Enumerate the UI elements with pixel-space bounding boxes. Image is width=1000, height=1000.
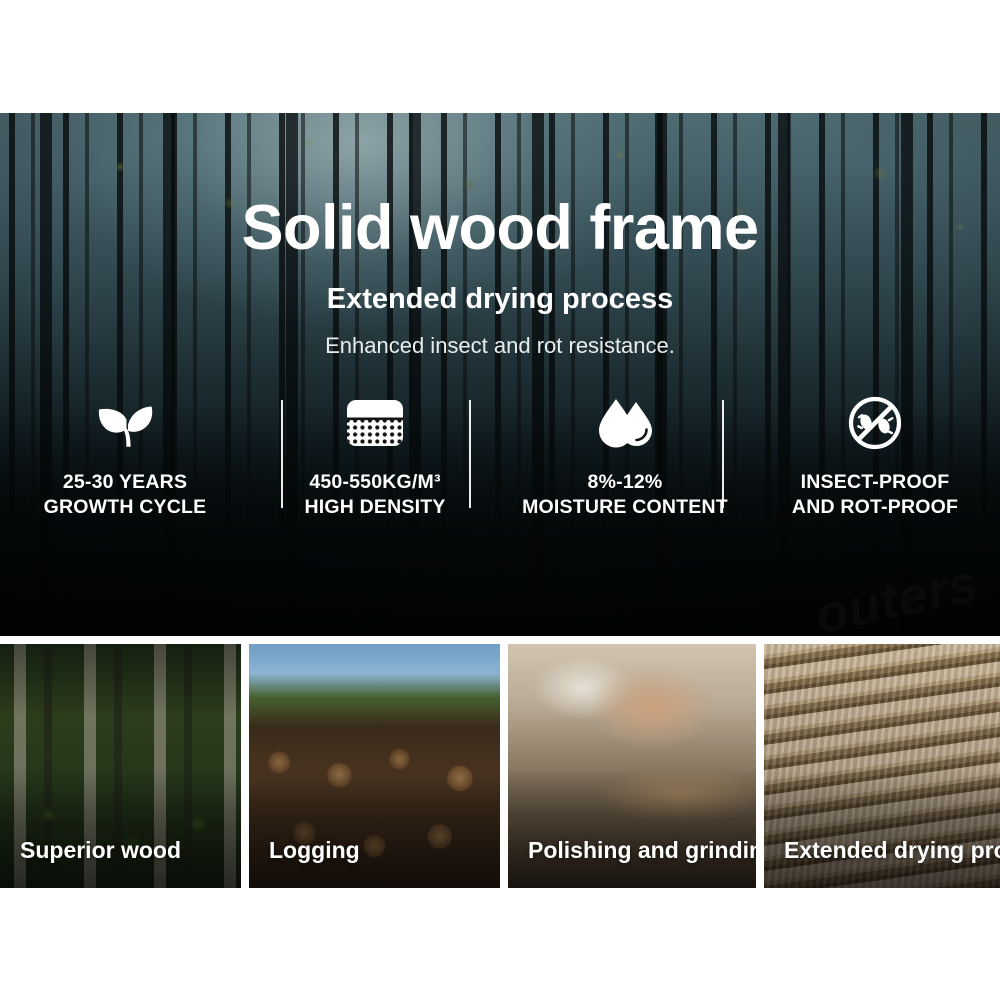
feature-line-1: 8%-12%	[588, 471, 663, 493]
tile-scrim	[0, 768, 241, 888]
infographic-page: outers Solid wood frame Extended drying …	[0, 0, 1000, 1000]
feature-line-1: INSECT-PROOF	[801, 471, 950, 493]
gallery-tile-superior-wood: Superior wood	[0, 644, 241, 888]
feature-line-1: 25-30 YEARS	[63, 471, 187, 493]
feature-label-high-density: 450-550KG/M³ HIGH DENSITY	[304, 470, 445, 520]
gallery-tile-logging: Logging	[249, 644, 500, 888]
feature-insect-proof: INSECT-PROOF AND ROT-PROOF	[750, 394, 1000, 520]
feature-line-2: GROWTH CYCLE	[44, 495, 207, 520]
feature-line-2: AND ROT-PROOF	[792, 495, 958, 520]
gallery-strip: Superior wood Logging Polishing and grin…	[0, 644, 1000, 888]
water-droplets-icon	[594, 394, 656, 450]
tile-scrim	[508, 768, 756, 888]
no-insect-icon	[847, 394, 903, 450]
gallery-caption: Superior wood	[20, 839, 181, 862]
hero-tagline: Enhanced insect and rot resistance.	[0, 335, 1000, 357]
gallery-tile-extended-drying: Extended drying process	[764, 644, 1000, 888]
tile-scrim	[249, 768, 500, 888]
feature-line-1: 450-550KG/M³	[309, 471, 440, 493]
gallery-tile-polishing-grinding: Polishing and grinding	[508, 644, 756, 888]
feature-row: 25-30 YEARS GROWTH CYCLE	[0, 394, 1000, 534]
feature-label-growth-cycle: 25-30 YEARS GROWTH CYCLE	[44, 470, 207, 520]
gallery-caption: Logging	[269, 839, 360, 862]
density-block-icon	[344, 394, 406, 450]
leaf-sprout-icon	[95, 394, 155, 450]
feature-high-density: 450-550KG/M³ HIGH DENSITY	[250, 394, 500, 520]
feature-label-insect-proof: INSECT-PROOF AND ROT-PROOF	[792, 470, 958, 520]
hero-title: Solid wood frame	[0, 197, 1000, 260]
feature-line-2: HIGH DENSITY	[304, 495, 445, 520]
feature-growth-cycle: 25-30 YEARS GROWTH CYCLE	[0, 394, 250, 520]
tile-scrim	[764, 768, 1000, 888]
feature-label-moisture-content: 8%-12% MOISTURE CONTENT	[522, 470, 728, 520]
feature-moisture-content: 8%-12% MOISTURE CONTENT	[500, 394, 750, 520]
gallery-caption: Extended drying process	[784, 839, 1000, 862]
hero-content: Solid wood frame Extended drying process…	[0, 113, 1000, 636]
feature-line-2: MOISTURE CONTENT	[522, 495, 728, 520]
hero-banner: outers Solid wood frame Extended drying …	[0, 113, 1000, 636]
hero-subtitle: Extended drying process	[0, 285, 1000, 314]
gallery-caption: Polishing and grinding	[528, 839, 756, 862]
